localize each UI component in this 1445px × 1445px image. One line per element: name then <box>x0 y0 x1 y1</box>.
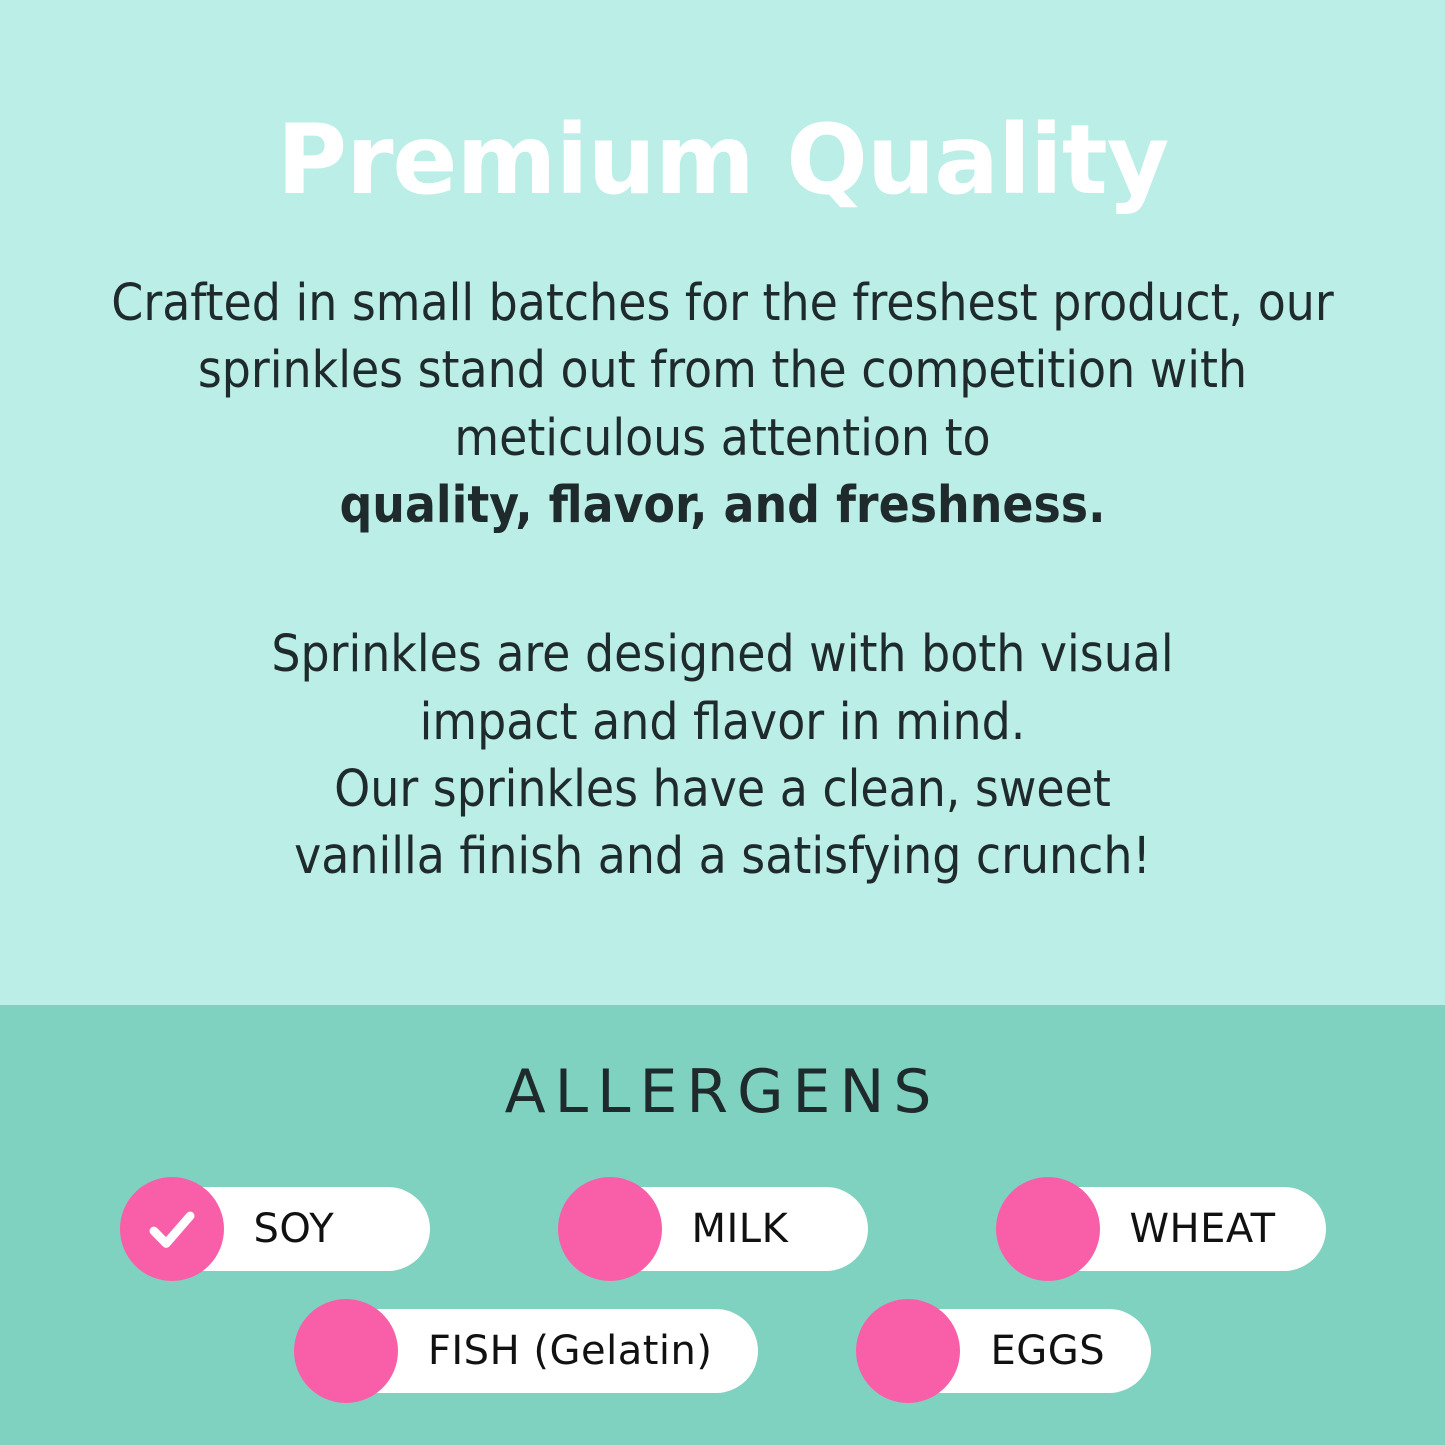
paragraph-craftsmanship: Crafted in small batches for the freshes… <box>70 270 1375 539</box>
paragraph-design-line-1: Sprinkles are designed with both visual <box>70 621 1375 688</box>
allergen-pill-milk[interactable]: MILK <box>558 1187 868 1271</box>
page-title: Premium Quality <box>70 0 1375 208</box>
check-icon <box>120 1177 224 1281</box>
description-block: Crafted in small batches for the freshes… <box>70 270 1375 891</box>
allergen-pill-soy[interactable]: SOY <box>120 1187 430 1271</box>
allergen-pill-wheat[interactable]: WHEAT <box>996 1187 1326 1271</box>
allergen-row-1: SOY MILK WHEAT <box>0 1187 1445 1271</box>
paragraph-design: Sprinkles are designed with both visual … <box>70 621 1375 890</box>
paragraph-spacer <box>70 539 1375 621</box>
paragraph-design-line-2: impact and flavor in mind. <box>70 689 1375 756</box>
allergens-section: ALLERGENS SOY MILK <box>0 1005 1445 1445</box>
allergen-label-soy: SOY <box>254 1209 335 1249</box>
allergen-label-eggs: EGGS <box>990 1331 1105 1371</box>
paragraph-craftsmanship-emphasis: quality, flavor, and freshness. <box>70 472 1375 539</box>
allergen-pill-eggs[interactable]: EGGS <box>856 1309 1151 1393</box>
circle-icon <box>996 1177 1100 1281</box>
allergens-title: ALLERGENS <box>0 1005 1445 1122</box>
allergen-row-2: FISH (Gelatin) EGGS <box>0 1309 1445 1393</box>
paragraph-design-line-3: Our sprinkles have a clean, sweet <box>70 756 1375 823</box>
circle-icon <box>294 1299 398 1403</box>
allergen-pill-list: SOY MILK WHEAT <box>0 1187 1445 1393</box>
allergen-label-fish: FISH (Gelatin) <box>428 1331 713 1371</box>
allergen-label-wheat: WHEAT <box>1130 1209 1276 1249</box>
allergen-pill-body-fish: FISH (Gelatin) <box>336 1309 759 1393</box>
product-info-card: Premium Quality Crafted in small batches… <box>0 0 1445 1445</box>
paragraph-design-line-4: vanilla finish and a satisfying crunch! <box>70 823 1375 890</box>
allergen-pill-fish[interactable]: FISH (Gelatin) <box>294 1309 759 1393</box>
allergen-label-milk: MILK <box>692 1209 789 1249</box>
paragraph-craftsmanship-lead: Crafted in small batches for the freshes… <box>111 274 1333 468</box>
circle-icon <box>856 1299 960 1403</box>
circle-icon <box>558 1177 662 1281</box>
premium-quality-section: Premium Quality Crafted in small batches… <box>0 0 1445 1005</box>
